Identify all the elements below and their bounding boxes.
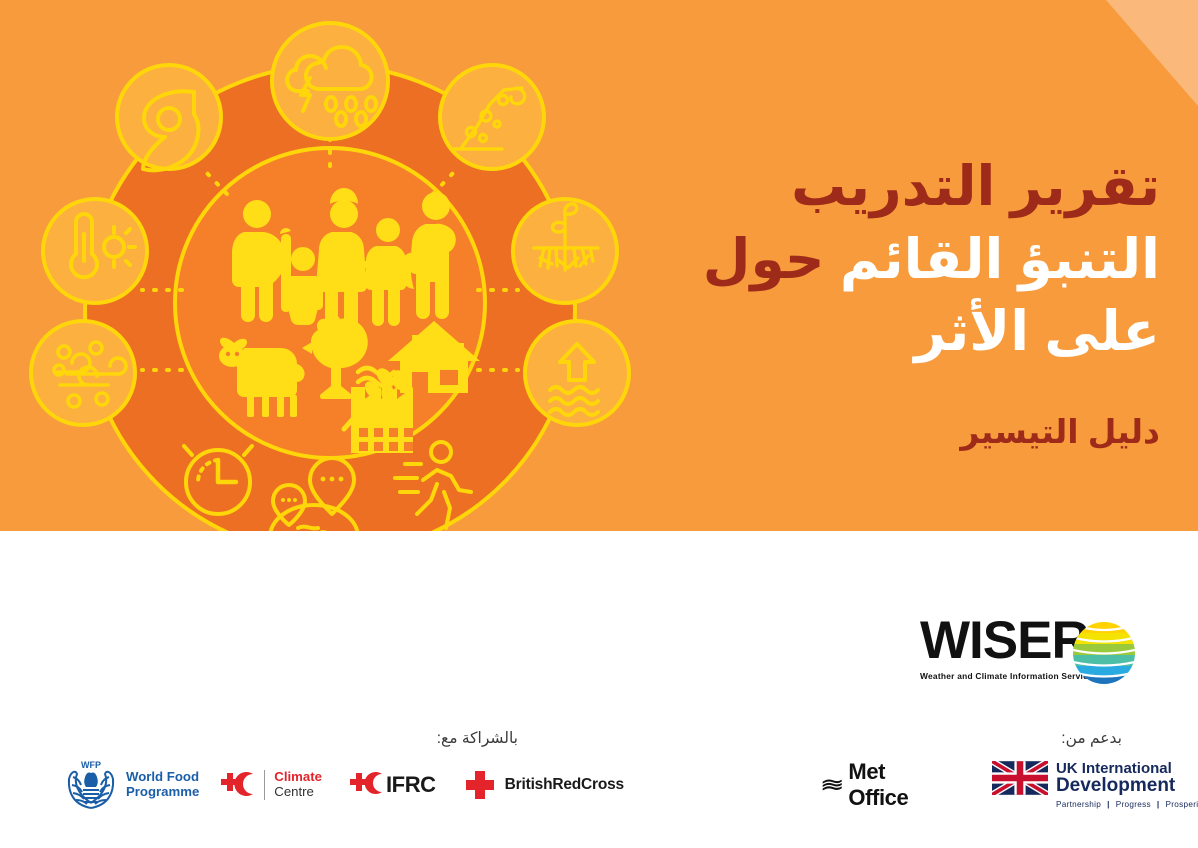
satellite-landslide-icon [440, 65, 544, 169]
wfp-logo: WFP World Food Programme [62, 757, 199, 813]
ukid-tagline-2: Progress [1116, 800, 1151, 809]
wfp-line-1: World Food [126, 770, 199, 785]
cover-subtitle: دليل التيسير [600, 412, 1160, 451]
wiser-logo: WISER Weather and Climate Information Se… [920, 614, 1135, 706]
british-red-cross-logo: BritishRedCross [464, 769, 624, 801]
wfp-wordmark: World Food Programme [126, 770, 199, 800]
ukid-separator-2: | [1157, 800, 1160, 809]
ukid-separator-1: | [1107, 800, 1110, 809]
joined-hands [361, 261, 379, 268]
wfp-line-2: Programme [126, 785, 199, 800]
met-office-logo: Met Office [822, 759, 918, 811]
impact-based-forecasting-infographic [22, 18, 642, 578]
red-cross-crescent-icon [346, 771, 384, 799]
svg-text:WFP: WFP [81, 760, 101, 770]
climate-centre-logo: Climate Centre [215, 770, 322, 800]
satellite-cyclone-icon [117, 65, 221, 170]
ifrc-wordmark: IFRC [386, 772, 436, 798]
wiser-globe-icon [1071, 620, 1137, 686]
partner-caption: بالشراكة مع: [378, 729, 518, 748]
ukid-tagline-1: Partnership [1056, 800, 1101, 809]
british-red-cross-wordmark: BritishRedCross [505, 776, 624, 794]
support-logo-row: Met Office UK International Development … [822, 756, 1198, 814]
red-cross-icon [464, 769, 496, 801]
ukid-line-2: Development [1056, 776, 1198, 796]
climate-centre-line-1: Climate [274, 770, 322, 785]
satellite-heatwave-thermometer-icon [43, 199, 147, 303]
met-office-waves-icon [822, 774, 842, 796]
satellite-thunderstorm-rain-icon [272, 23, 388, 139]
climate-centre-line-2: Centre [274, 785, 322, 800]
title-line-2-dark: حول [703, 228, 825, 290]
cover-page: تقرير التدريب التنبؤ القائم حول على الأث… [0, 0, 1198, 848]
red-cross-crescent-icon [215, 770, 255, 800]
satellite-wind-dust-icon [31, 321, 135, 425]
union-jack-icon [992, 761, 1048, 795]
title-line-3: على الأثر [600, 295, 1160, 368]
climate-centre-wordmark: Climate Centre [274, 770, 322, 799]
uk-international-development-logo: UK International Development Partnership… [992, 761, 1198, 810]
support-caption: بدعم من: [1000, 729, 1122, 748]
partner-logo-row: WFP World Food Programme [62, 756, 624, 814]
ukid-tagline-3: Prosperity [1165, 800, 1198, 809]
met-office-wordmark: Met Office [848, 759, 918, 811]
wfp-wreath-icon: WFP [62, 757, 120, 813]
title-line-2: التنبؤ القائم حول [600, 223, 1160, 296]
title-line-1: تقرير التدريب [600, 150, 1160, 223]
ukid-taglines: Partnership | Progress | Prosperity [1056, 800, 1198, 809]
logo-divider [264, 770, 265, 800]
cover-title-block: تقرير التدريب التنبؤ القائم حول على الأث… [600, 150, 1160, 451]
title-line-2-white: التنبؤ القائم [840, 228, 1160, 290]
ifrc-logo: IFRC [346, 771, 436, 799]
ukid-line-1: UK International [1056, 761, 1198, 777]
ukid-wordmark: UK International Development Partnership… [1056, 761, 1198, 810]
